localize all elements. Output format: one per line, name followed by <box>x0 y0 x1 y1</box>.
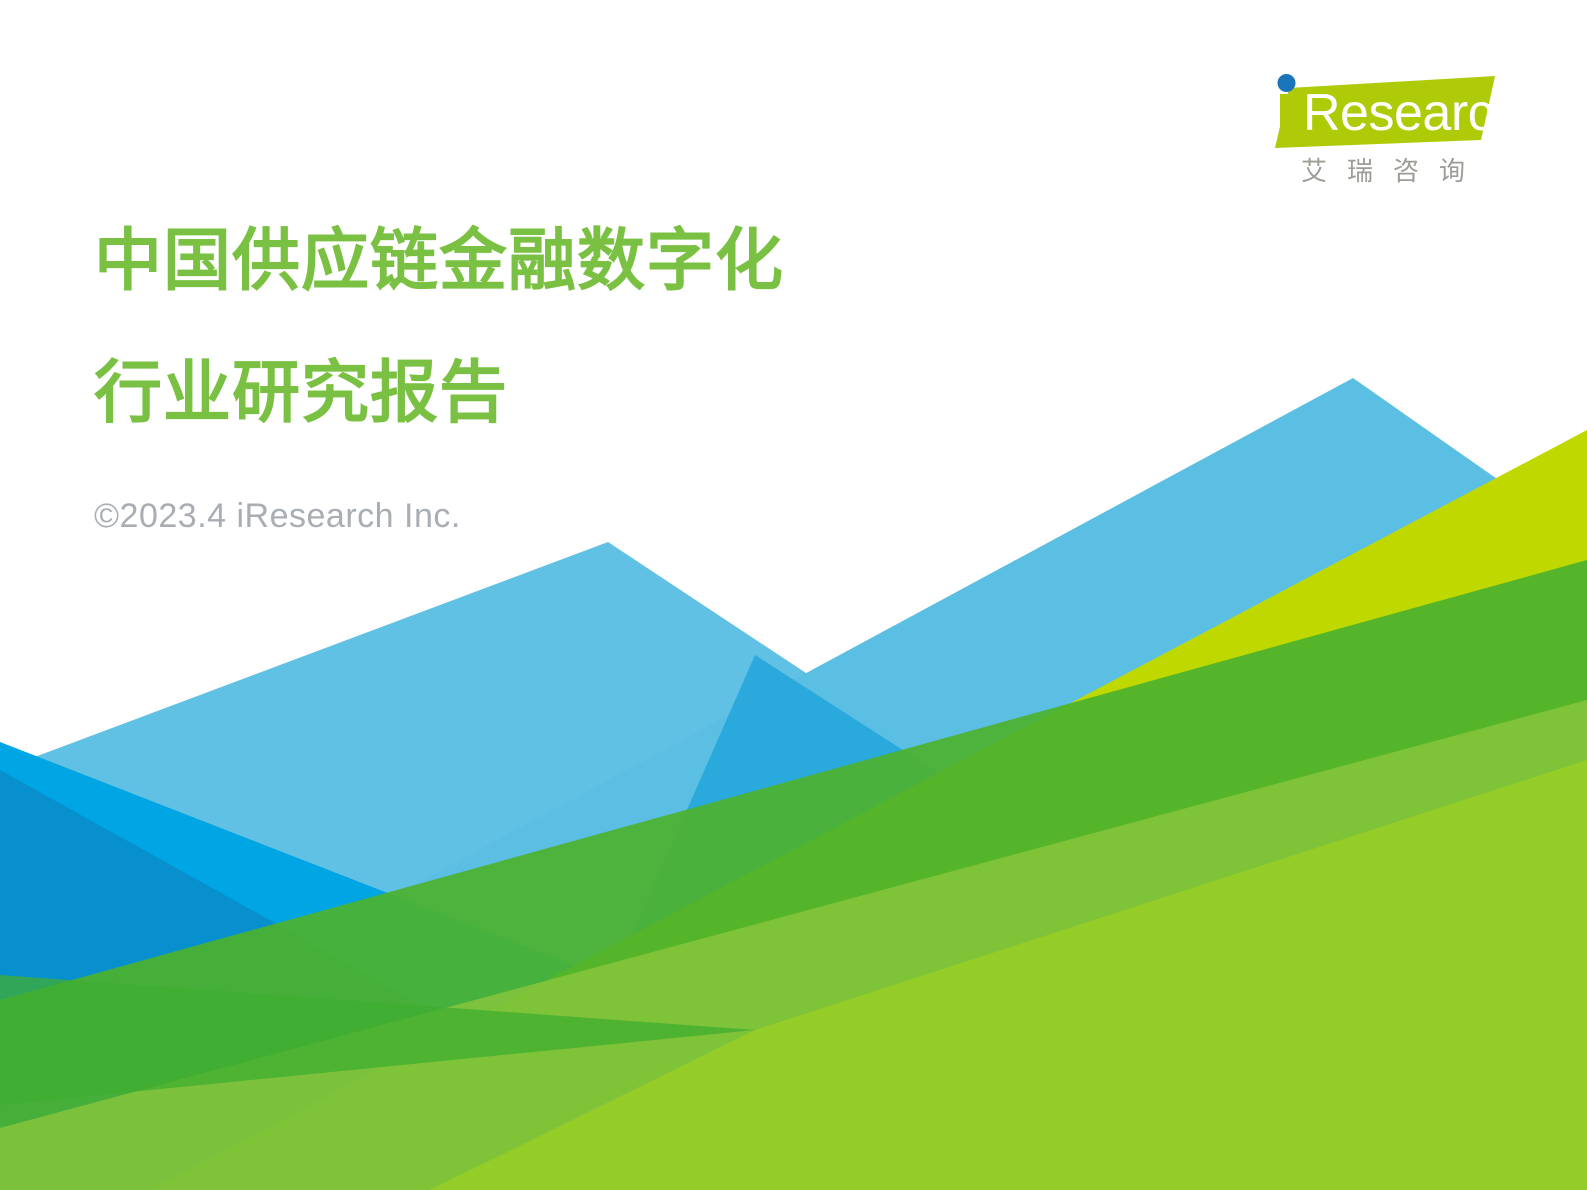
logo-i-dot-icon <box>1278 74 1296 92</box>
title-line-2: 行业研究报告 <box>94 360 1094 428</box>
shape-blue-overlap-right <box>520 655 1587 1190</box>
shape-dark-green-left-wedge <box>0 975 755 1105</box>
report-cover-slide: Research 艾瑞咨询 中国供应链金融数字化 行业研究报告 ©2023.4 … <box>0 0 1587 1190</box>
logo-wordmark: Research <box>1267 70 1499 152</box>
page-title: 中国供应链金融数字化 行业研究报告 <box>94 228 1094 428</box>
shape-light-blue-left-peak <box>0 542 1587 1190</box>
logo-chinese-name: 艾瑞咨询 <box>1267 158 1499 187</box>
shape-deep-blue-overlap <box>0 770 755 1190</box>
copyright-notice: ©2023.4 iResearch Inc. <box>94 497 461 536</box>
iresearch-logo: Research 艾瑞咨询 <box>1267 70 1499 187</box>
title-line-1: 中国供应链金融数字化 <box>94 228 1094 296</box>
shape-lime-lower-right <box>430 760 1587 1190</box>
shape-leaf-green-left <box>0 560 1587 1190</box>
logo-plate-svg: Research <box>1267 70 1499 152</box>
logo-i-stem <box>1280 94 1293 146</box>
shape-apple-green-lower <box>0 700 1587 1190</box>
logo-research-text: Research <box>1303 84 1499 142</box>
shape-cyan-blue-left <box>0 742 1150 1190</box>
shape-lime-right-sheet <box>150 430 1587 1190</box>
